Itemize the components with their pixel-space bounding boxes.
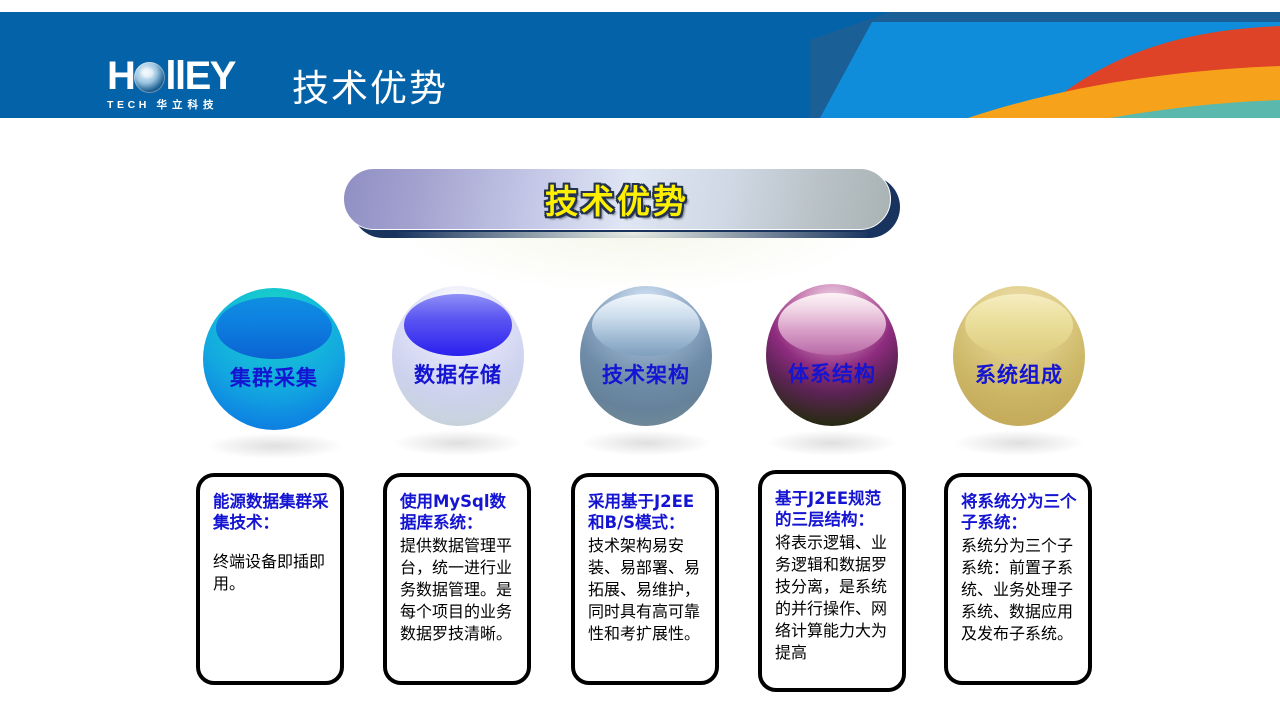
card-body-5: 系统分为三个子系统：前置子系统、业务处理子系统、数据应用及发布子系统。 — [961, 535, 1077, 645]
card-tech-architecture[interactable]: 采用基于J2EE和B/S模式： 技术架构易安装、易部署、易拓展、易维护，同时具有… — [571, 473, 719, 685]
card-data-storage[interactable]: 使用MySql数据库系统： 提供数据管理平台，统一进行业务数据管理。是每个项目的… — [383, 473, 531, 685]
card-heading-3: 采用基于J2EE和B/S模式： — [588, 491, 704, 533]
card-body-4: 将表示逻辑、业务逻辑和数据罗技分离，是系统的并行操作、网络计算能力大为提高 — [775, 532, 891, 664]
card-heading-5: 将系统分为三个子系统： — [961, 491, 1077, 533]
slide-canvas: HllEY TECH 华立科技 技术优势 技术优势 集群采集 数据存储 技术架构 — [0, 0, 1280, 720]
card-body-3: 技术架构易安装、易部署、易拓展、易维护，同时具有高可靠性和考扩展性。 — [588, 535, 704, 645]
card-heading-2: 使用MySql数据库系统： — [400, 491, 516, 533]
card-row: 能源数据集群采集技术： 终端设备即插即用。 使用MySql数据库系统： 提供数据… — [0, 0, 1280, 720]
card-body-1: 终端设备即插即用。 — [213, 551, 329, 595]
card-heading-1: 能源数据集群采集技术： — [213, 491, 329, 533]
card-body-2: 提供数据管理平台，统一进行业务数据管理。是每个项目的业务数据罗技清晰。 — [400, 535, 516, 645]
card-cluster-collection[interactable]: 能源数据集群采集技术： 终端设备即插即用。 — [196, 473, 344, 685]
card-system-structure[interactable]: 基于J2EE规范的三层结构： 将表示逻辑、业务逻辑和数据罗技分离，是系统的并行操… — [758, 470, 906, 692]
card-system-composition[interactable]: 将系统分为三个子系统： 系统分为三个子系统：前置子系统、业务处理子系统、数据应用… — [944, 473, 1092, 685]
card-heading-4: 基于J2EE规范的三层结构： — [775, 488, 891, 530]
